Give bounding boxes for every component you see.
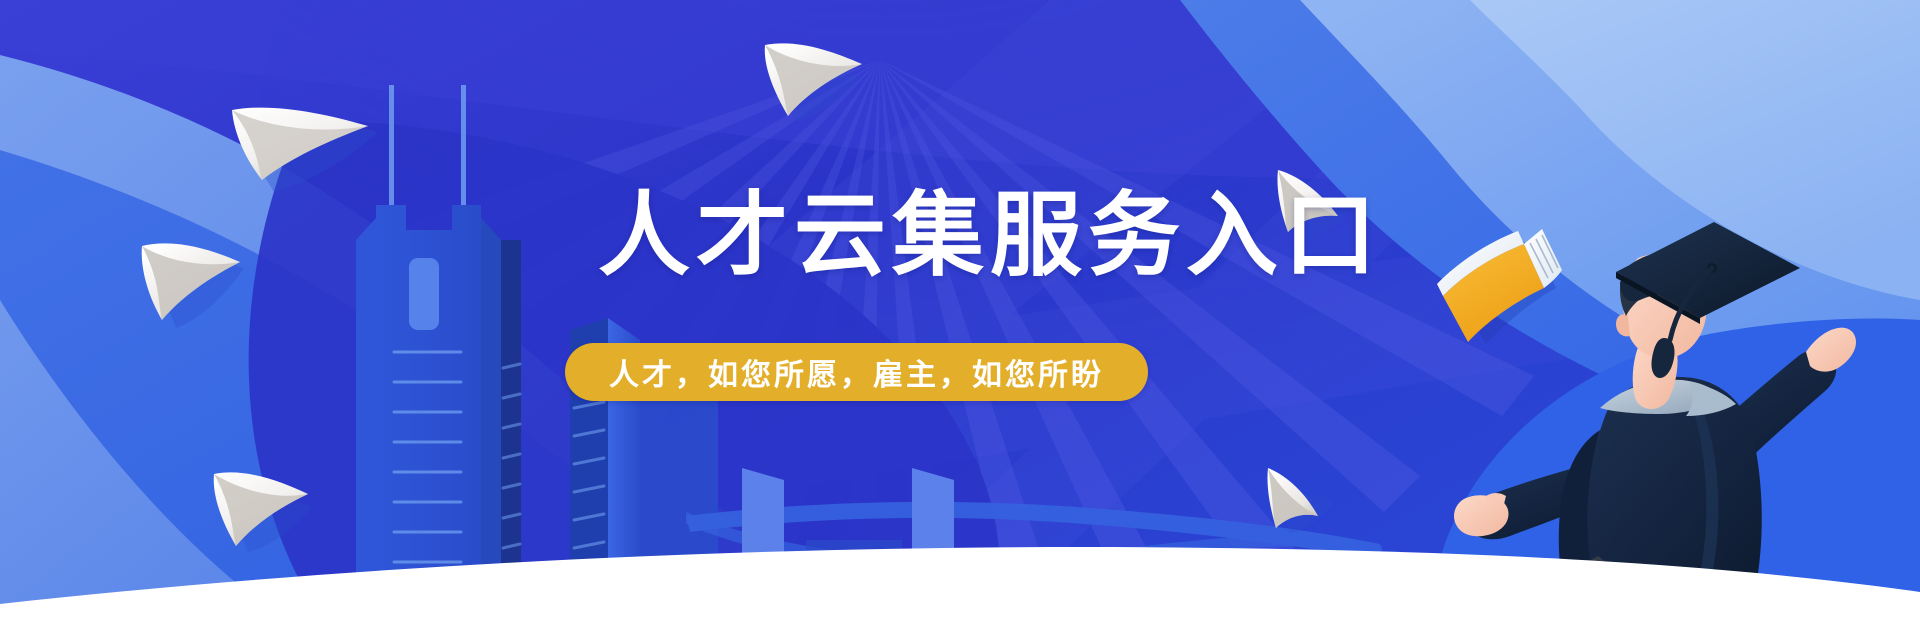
hero-banner: 人才云集服务入口 人才，如您所愿，雇主，如您所盼 (0, 0, 1920, 630)
footer-white-wave (0, 0, 1920, 630)
